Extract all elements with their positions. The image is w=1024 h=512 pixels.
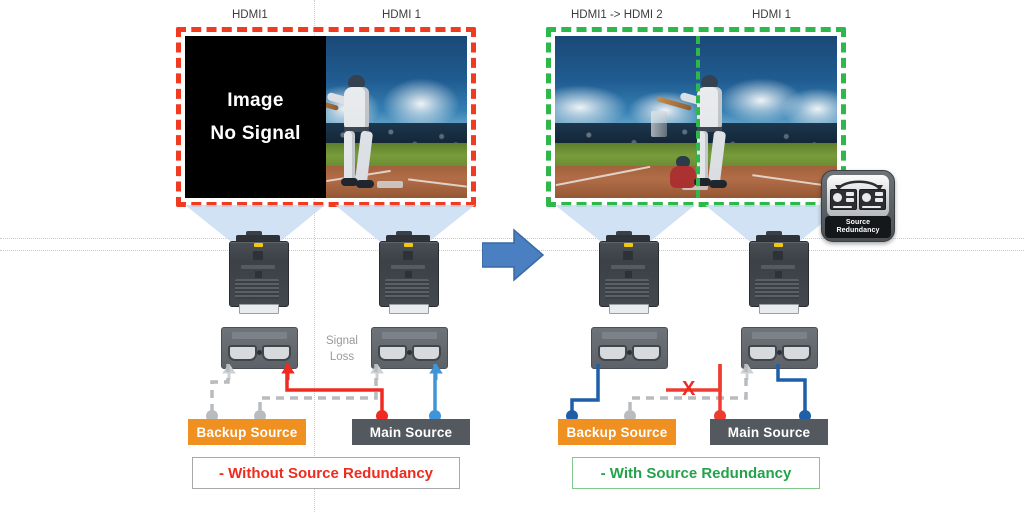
right-display-screen xyxy=(546,27,846,207)
no-signal-line-2: No Signal xyxy=(210,117,300,150)
right-main-source-box: Main Source xyxy=(710,419,828,445)
left-display-screen: Image No Signal xyxy=(176,27,476,207)
right-screen-label-right: HDMI 1 xyxy=(752,9,791,21)
no-signal-half: Image No Signal xyxy=(185,36,326,198)
source-redundancy-badge: Source Redundancy xyxy=(821,170,895,242)
left-main-source-box: Main Source xyxy=(352,419,470,445)
failure-x-marker: X xyxy=(682,379,695,399)
left-caption: - Without Source Redundancy xyxy=(192,457,460,489)
right-backup-source-box: Backup Source xyxy=(558,419,676,445)
badge-device-left xyxy=(830,189,857,210)
right-projector-main xyxy=(749,235,807,313)
right-screen-label-left: HDMI1 -> HDMI 2 xyxy=(571,9,663,21)
right-projector-backup xyxy=(599,235,657,313)
left-backup-source-box: Backup Source xyxy=(188,419,306,445)
left-cabling xyxy=(176,360,476,426)
badge-line-1: Source xyxy=(846,219,870,227)
badge-device-right xyxy=(859,189,886,210)
arrow-right-icon xyxy=(482,228,544,282)
signal-loss-line-1: Signal xyxy=(319,334,365,350)
live-video-half xyxy=(326,36,467,198)
right-cabling xyxy=(546,360,846,426)
diagram-canvas: HDMI1 HDMI 1 Image No Signal xyxy=(0,0,1024,512)
no-signal-line-1: Image xyxy=(227,84,283,117)
left-screen-label-right: HDMI 1 xyxy=(382,9,421,21)
badge-line-2: Redundancy xyxy=(836,227,879,235)
left-projector-main xyxy=(379,235,437,313)
left-projector-backup xyxy=(229,235,287,313)
left-screen-label-left: HDMI1 xyxy=(232,9,268,21)
right-caption: - With Source Redundancy xyxy=(572,457,820,489)
